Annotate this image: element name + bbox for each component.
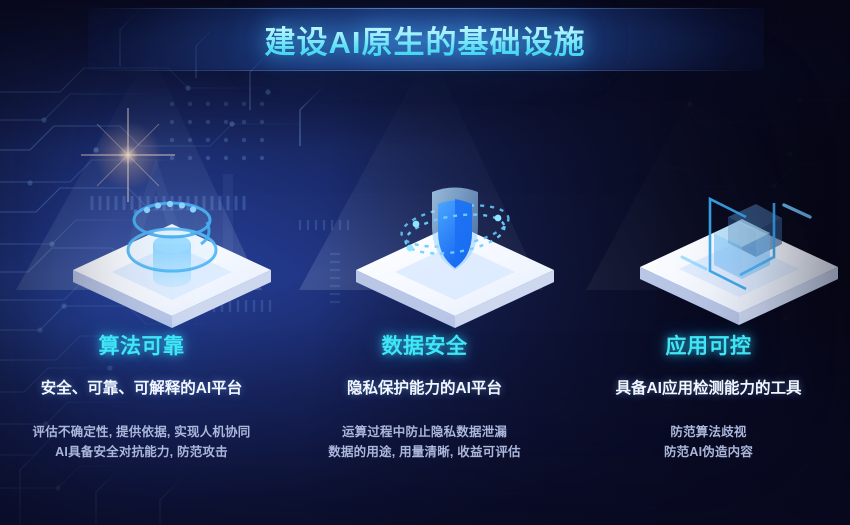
column-note-line: 运算过程中防止隐私数据泄漏 (283, 422, 566, 442)
column-note-line: 防范AI伪造内容 (567, 442, 850, 462)
slide-canvas: 建设AI原生的基础设施 算法可靠 安全、可靠、可解释的AI平台 评估不确定性, … (0, 0, 850, 525)
column-notes: 运算过程中防止隐私数据泄漏 数据的用途, 用量清晰, 收益可评估 (283, 422, 566, 462)
page-title: 建设AI原生的基础设施 (0, 17, 850, 62)
column-subtitle: 安全、可靠、可解释的AI平台 (0, 376, 283, 398)
column-note-line: 数据的用途, 用量清晰, 收益可评估 (283, 442, 566, 462)
column-note-line: AI具备安全对抗能力, 防范攻击 (0, 442, 283, 462)
column-subtitle: 具备AI应用检测能力的工具 (567, 376, 850, 398)
column-heading: 数据安全 (283, 330, 566, 360)
feature-column-1: 算法可靠 安全、可靠、可解释的AI平台 评估不确定性, 提供依据, 实现人机协同… (0, 330, 283, 462)
column-notes: 防范算法歧视 防范AI伪造内容 (567, 422, 850, 462)
title-band-bottom-rule (88, 70, 764, 71)
feature-column-2: 数据安全 隐私保护能力的AI平台 运算过程中防止隐私数据泄漏 数据的用途, 用量… (283, 330, 566, 462)
column-subtitle: 隐私保护能力的AI平台 (283, 376, 566, 398)
column-note-line: 评估不确定性, 提供依据, 实现人机协同 (0, 422, 283, 442)
feature-column-3: 应用可控 具备AI应用检测能力的工具 防范算法歧视 防范AI伪造内容 (567, 330, 850, 462)
title-band-top-rule (88, 8, 764, 9)
column-notes: 评估不确定性, 提供依据, 实现人机协同 AI具备安全对抗能力, 防范攻击 (0, 422, 283, 462)
column-note-line: 防范算法歧视 (567, 422, 850, 442)
column-heading: 算法可靠 (0, 330, 283, 360)
column-heading: 应用可控 (567, 330, 850, 360)
